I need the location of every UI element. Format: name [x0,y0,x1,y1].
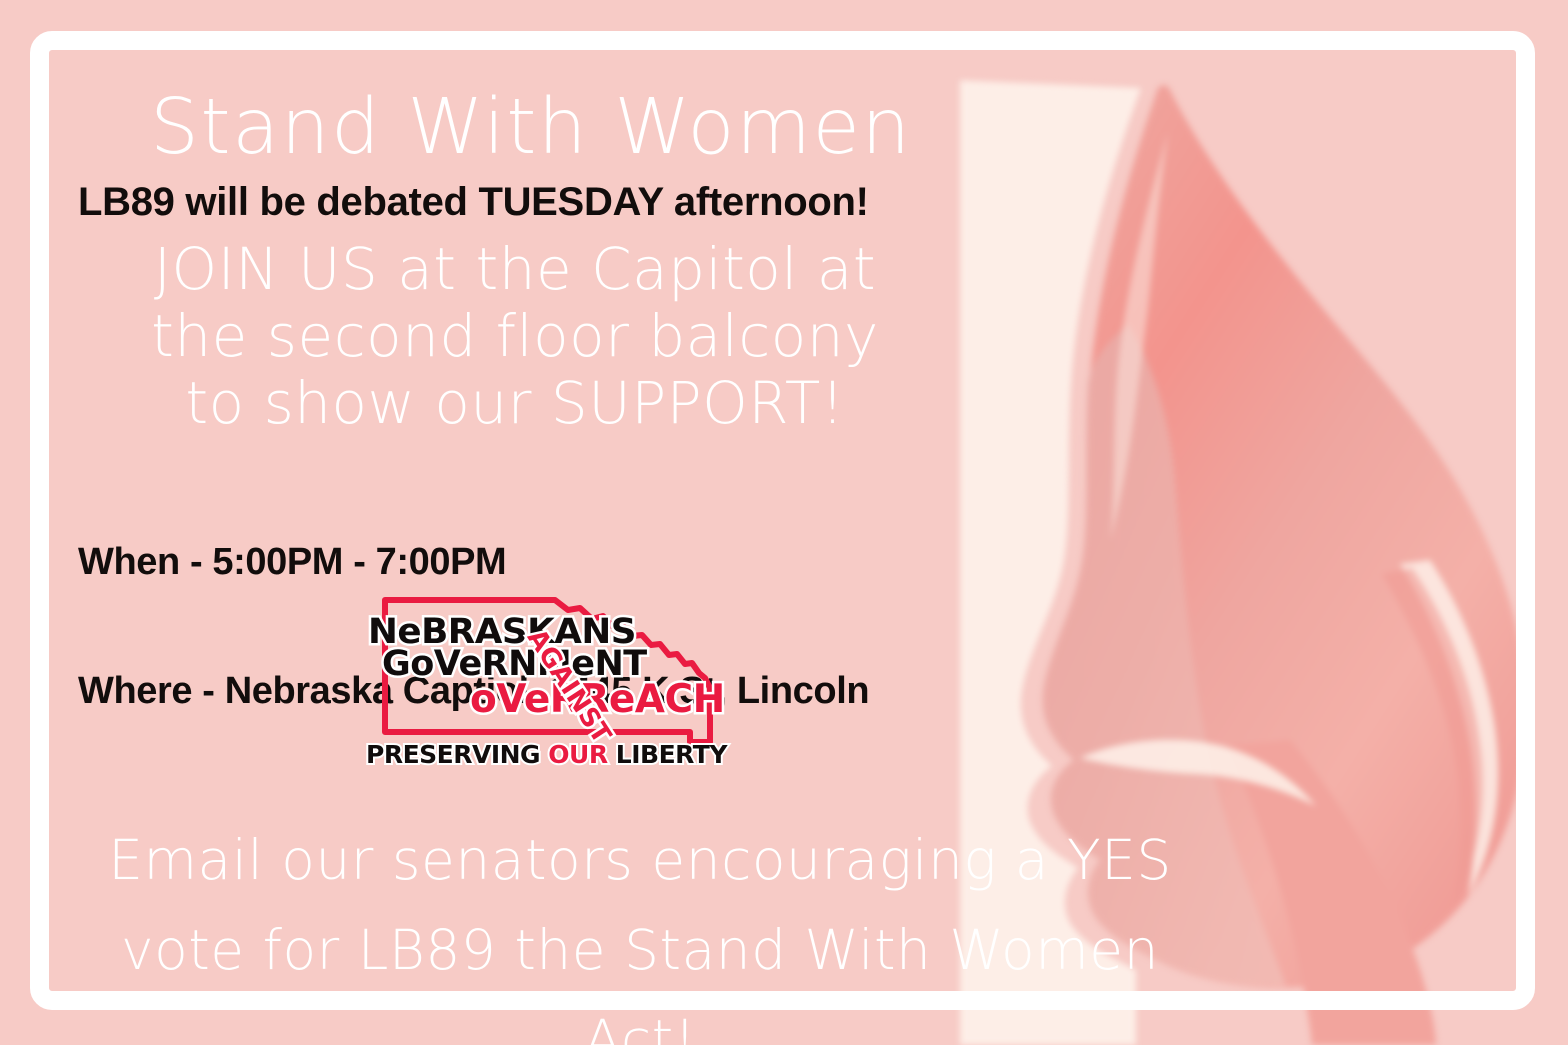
debate-announcement: LB89 will be debated TUESDAY afternoon! [78,178,869,226]
page-title: Stand With Women [150,86,912,170]
call-to-action: Email our senators encouraging a YES vot… [60,815,1220,1045]
organization-logo: NeBRASKANS GoVeRNMeNT oVeRReACH AGAINST … [360,592,725,782]
event-when: When - 5:00PM - 7:00PM [78,541,869,584]
call-to-action-line-1: Email our senators encouraging a YES [60,815,1220,905]
join-us-line-1: JOIN US at the Capitol at [150,236,880,303]
tagline-liberty: LIBERTY [608,740,727,769]
join-us-line-3: to show our SUPPORT! [150,370,880,437]
flyer-canvas: Stand With Women LB89 will be debated TU… [0,0,1568,1045]
tagline-preserving: PRESERVING [366,740,548,769]
join-us-line-2: the second floor balcony [150,303,880,370]
call-to-action-line-2: vote for LB89 the Stand With Women Act! [60,905,1220,1045]
logo-tagline: PRESERVING OUR LIBERTY [366,740,721,769]
join-us-message: JOIN US at the Capitol at the second flo… [150,236,880,437]
tagline-our: OUR [548,740,607,769]
